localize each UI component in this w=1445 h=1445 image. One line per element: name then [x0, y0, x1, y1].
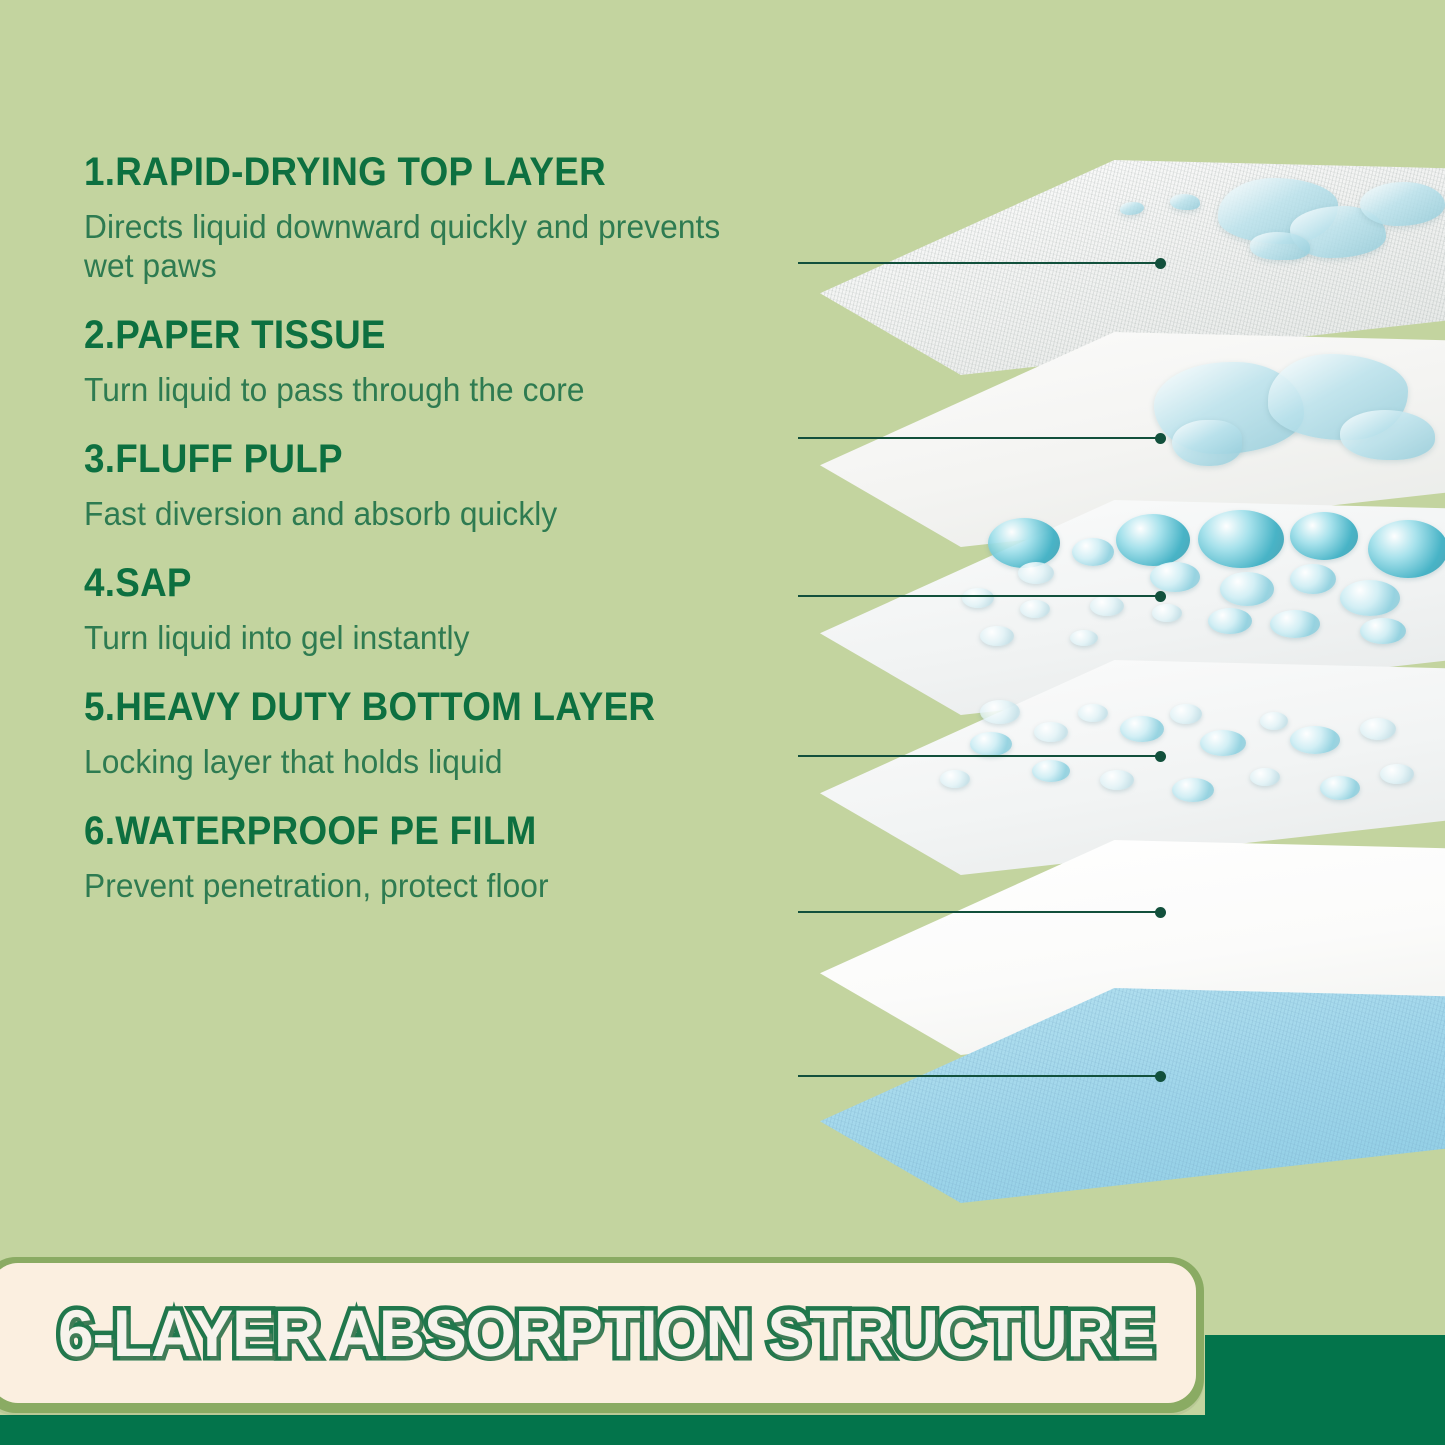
layer-title: 6.WATERPROOF PE FILM: [84, 811, 728, 851]
gel-bead: [1368, 520, 1445, 578]
gel-bead: [1152, 604, 1182, 622]
layer-item-1: 1.RAPID-DRYING TOP LAYER Directs liquid …: [84, 152, 784, 286]
banner-inner: 6-LAYER ABSORPTION STRUCTURE: [0, 1263, 1196, 1403]
gel-bead: [1020, 600, 1050, 618]
layer-description: Prevent penetration, protect floor: [84, 867, 756, 906]
gel-droplet: [970, 732, 1012, 756]
gel-droplet: [1172, 778, 1214, 802]
gel-droplet: [1078, 704, 1108, 722]
gel-bead: [988, 518, 1060, 568]
bottom-bar: [0, 1415, 1445, 1445]
gel-bead: [1270, 610, 1320, 638]
sheet-surface: [820, 988, 1445, 1203]
layer-item-6: 6.WATERPROOF PE FILM Prevent penetration…: [84, 811, 784, 906]
gel-droplet: [1200, 730, 1246, 756]
gel-bead: [1070, 630, 1098, 646]
gel-bead: [1198, 510, 1284, 568]
gel-droplet: [1320, 776, 1360, 800]
gel-bead: [1290, 512, 1358, 560]
gel-bead: [1072, 538, 1114, 566]
gel-droplet: [940, 770, 970, 788]
layer-description: Turn liquid to pass through the core: [84, 371, 756, 410]
gel-bead: [962, 588, 994, 608]
gel-bead: [1290, 564, 1336, 594]
gel-droplet: [980, 700, 1020, 724]
gel-droplet: [1170, 704, 1202, 724]
layer-description: Directs liquid downward quickly and prev…: [84, 208, 756, 286]
layer-title: 5.HEAVY DUTY BOTTOM LAYER: [84, 687, 728, 727]
gel-droplet: [1032, 760, 1070, 782]
gel-droplet: [1360, 718, 1396, 740]
gel-bead: [1208, 608, 1252, 634]
gel-bead: [1360, 618, 1406, 644]
layer-description: Fast diversion and absorb quickly: [84, 495, 756, 534]
gel-bead: [1116, 514, 1190, 566]
banner-title: 6-LAYER ABSORPTION STRUCTURE: [58, 1295, 1154, 1371]
gel-droplet: [1290, 726, 1340, 754]
gel-droplet: [1100, 770, 1134, 790]
layer-title: 2.PAPER TISSUE: [84, 315, 728, 355]
layer-item-2: 2.PAPER TISSUE Turn liquid to pass throu…: [84, 315, 784, 410]
liquid-splash: [1172, 420, 1242, 466]
layer-title: 3.FLUFF PULP: [84, 439, 728, 479]
layer-title: 4.SAP: [84, 563, 728, 603]
gel-bead: [1090, 596, 1124, 616]
gel-droplet: [1034, 722, 1068, 742]
liquid-splash: [1170, 194, 1200, 210]
product-layer-illustration: [820, 160, 1445, 1180]
banner-frame: 6-LAYER ABSORPTION STRUCTURE: [0, 1257, 1204, 1413]
layer-description: Locking layer that holds liquid: [84, 743, 756, 782]
layer-item-5: 5.HEAVY DUTY BOTTOM LAYER Locking layer …: [84, 687, 784, 782]
liquid-splash: [1340, 410, 1435, 460]
layer-structure-infographic: 1.RAPID-DRYING TOP LAYER Directs liquid …: [0, 0, 1445, 1445]
layer-title: 1.RAPID-DRYING TOP LAYER: [84, 152, 728, 192]
layer-item-3: 3.FLUFF PULP Fast diversion and absorb q…: [84, 439, 784, 534]
gel-bead: [980, 626, 1014, 646]
layer-item-4: 4.SAP Turn liquid into gel instantly: [84, 563, 784, 658]
gel-droplet: [1380, 764, 1414, 784]
gel-bead: [1018, 562, 1054, 584]
gel-bead: [1150, 562, 1200, 592]
gel-bead: [1340, 580, 1400, 616]
gel-bead: [1220, 572, 1274, 606]
gel-droplet: [1120, 716, 1164, 742]
gel-droplet: [1260, 712, 1288, 730]
waterproof-pe-film-sheet: [820, 988, 1445, 1203]
layer-description-list: 1.RAPID-DRYING TOP LAYER Directs liquid …: [84, 152, 784, 906]
layer-description: Turn liquid into gel instantly: [84, 619, 756, 658]
gel-droplet: [1250, 768, 1280, 786]
liquid-splash: [1250, 232, 1310, 260]
